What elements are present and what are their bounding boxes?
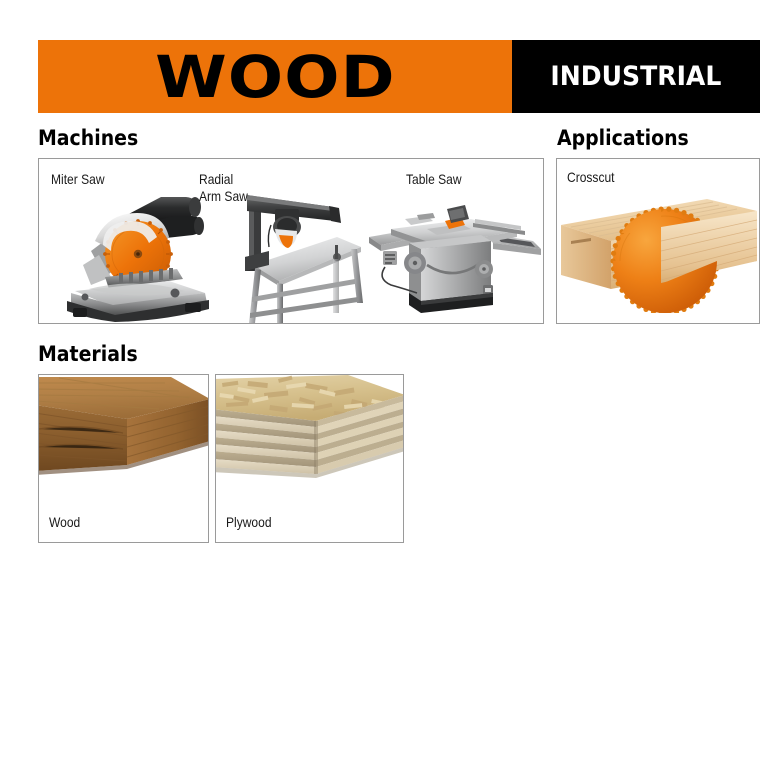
- section-heading-applications: Applications: [557, 126, 689, 150]
- miter-saw-icon: [45, 181, 217, 323]
- banner-line-panel: INDUSTRIAL: [512, 40, 760, 113]
- banner-product-panel: WOOD: [38, 40, 512, 113]
- solid-wood-block-icon: [39, 375, 209, 495]
- section-heading-machines: Machines: [38, 126, 138, 150]
- section-heading-materials: Materials: [38, 342, 138, 366]
- crosscut-blade-icon: [557, 185, 760, 313]
- material-card-plywood: Plywood: [215, 374, 404, 543]
- machine-label-table-saw: Table Saw: [406, 171, 462, 188]
- product-banner: WOOD INDUSTRIAL: [38, 40, 760, 113]
- banner-line-title: INDUSTRIAL: [551, 63, 722, 90]
- plywood-block-icon: [216, 375, 404, 497]
- table-saw-icon: [365, 193, 543, 315]
- material-label-plywood: Plywood: [226, 514, 272, 531]
- material-label-wood: Wood: [49, 514, 80, 531]
- banner-product-title: WOOD: [155, 48, 396, 106]
- applications-panel: Crosscut: [556, 158, 760, 324]
- material-card-wood: Wood: [38, 374, 209, 543]
- machine-label-radial-arm-saw: Radial Arm Saw: [199, 171, 248, 204]
- machines-panel: Miter Saw Radial Arm Saw Table Saw: [38, 158, 544, 324]
- application-label-crosscut: Crosscut: [567, 169, 615, 186]
- machine-label-miter-saw: Miter Saw: [51, 171, 105, 188]
